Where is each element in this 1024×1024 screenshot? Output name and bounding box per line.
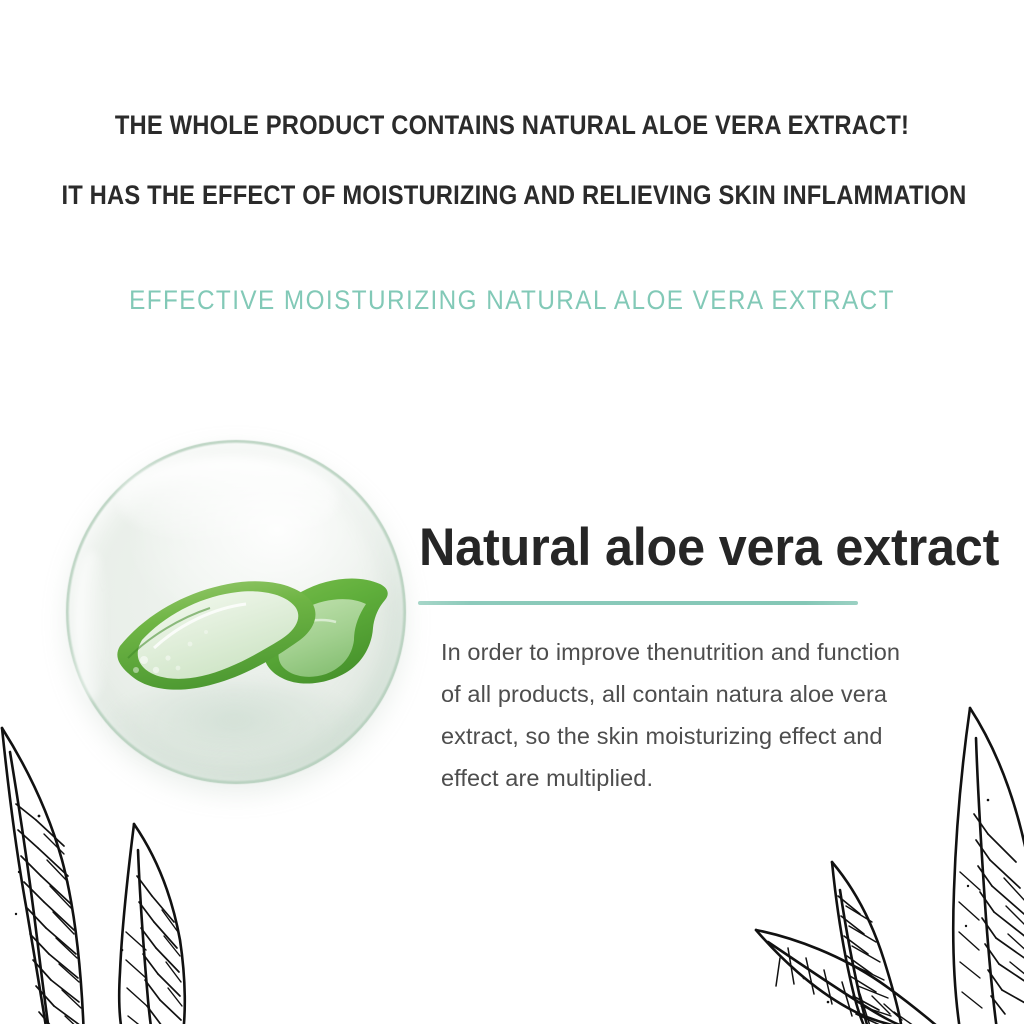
subtitle-tagline: EFFECTIVE MOISTURIZING NATURAL ALOE VERA… <box>51 283 973 317</box>
leaf-cluster-bl-svg <box>0 700 276 1024</box>
poster-canvas: THE WHOLE PRODUCT CONTAINS NATURAL ALOE … <box>0 0 1024 1024</box>
headline-secondary: IT HAS THE EFFECT OF MOISTURIZING AND RE… <box>61 178 962 212</box>
description-line-1: In order to improve thenutrition and fun… <box>441 631 971 673</box>
sketched-leaf-tall <box>2 728 84 1024</box>
headline-primary: THE WHOLE PRODUCT CONTAINS NATURAL ALOE … <box>61 108 962 142</box>
leaf-cluster-bottom-right <box>742 690 1024 1024</box>
sketched-leaf-upright <box>832 862 902 1024</box>
sketched-leaf-short <box>119 824 185 1024</box>
title-divider-rule <box>418 601 858 605</box>
leaf-cluster-br-svg <box>742 690 1024 1024</box>
leaf-cluster-bottom-left <box>0 700 276 1024</box>
product-title: Natural aloe vera extract <box>419 519 999 577</box>
headline-block: THE WHOLE PRODUCT CONTAINS NATURAL ALOE … <box>0 108 1024 212</box>
sketched-leaf-tall-right <box>953 708 1024 1024</box>
